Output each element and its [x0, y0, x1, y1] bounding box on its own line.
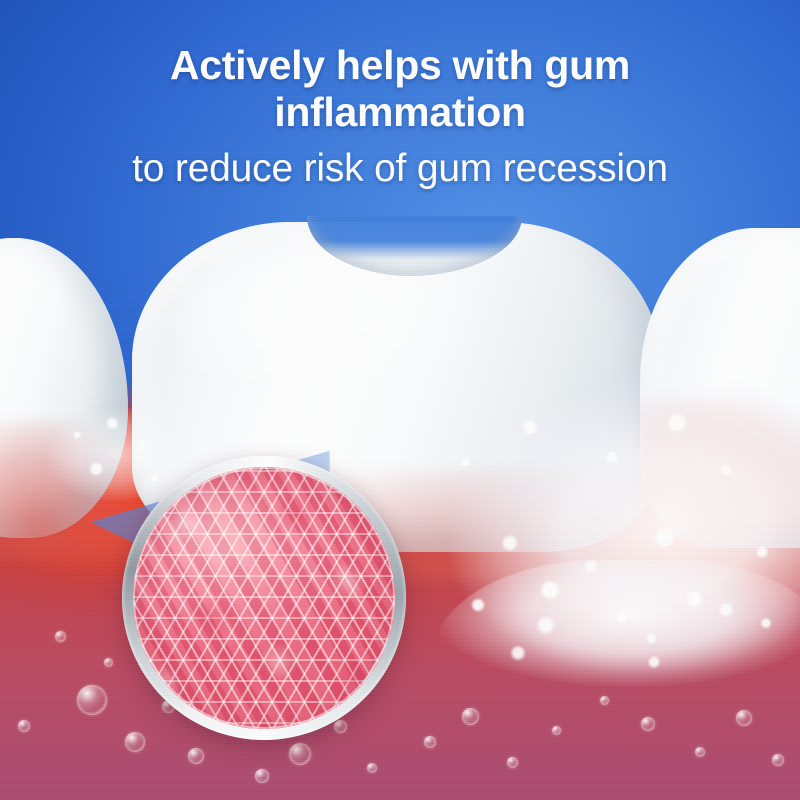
headline-block: Actively helps with gum inflammation to … — [0, 42, 800, 191]
headline-subline: to reduce risk of gum recession — [0, 147, 800, 191]
headline-line-2: inflammation — [0, 89, 800, 136]
tooth-right-partial — [640, 228, 800, 548]
tooth-crown — [0, 238, 128, 538]
magnifier-glass — [133, 467, 395, 729]
product-visual-canvas: Actively helps with gum inflammation to … — [0, 0, 800, 800]
magnifier-lens — [122, 456, 406, 740]
headline-line-1: Actively helps with gum — [0, 42, 800, 89]
lens-vignette — [133, 467, 395, 729]
tooth-left-partial — [0, 238, 128, 538]
tooth-crown — [640, 228, 800, 548]
